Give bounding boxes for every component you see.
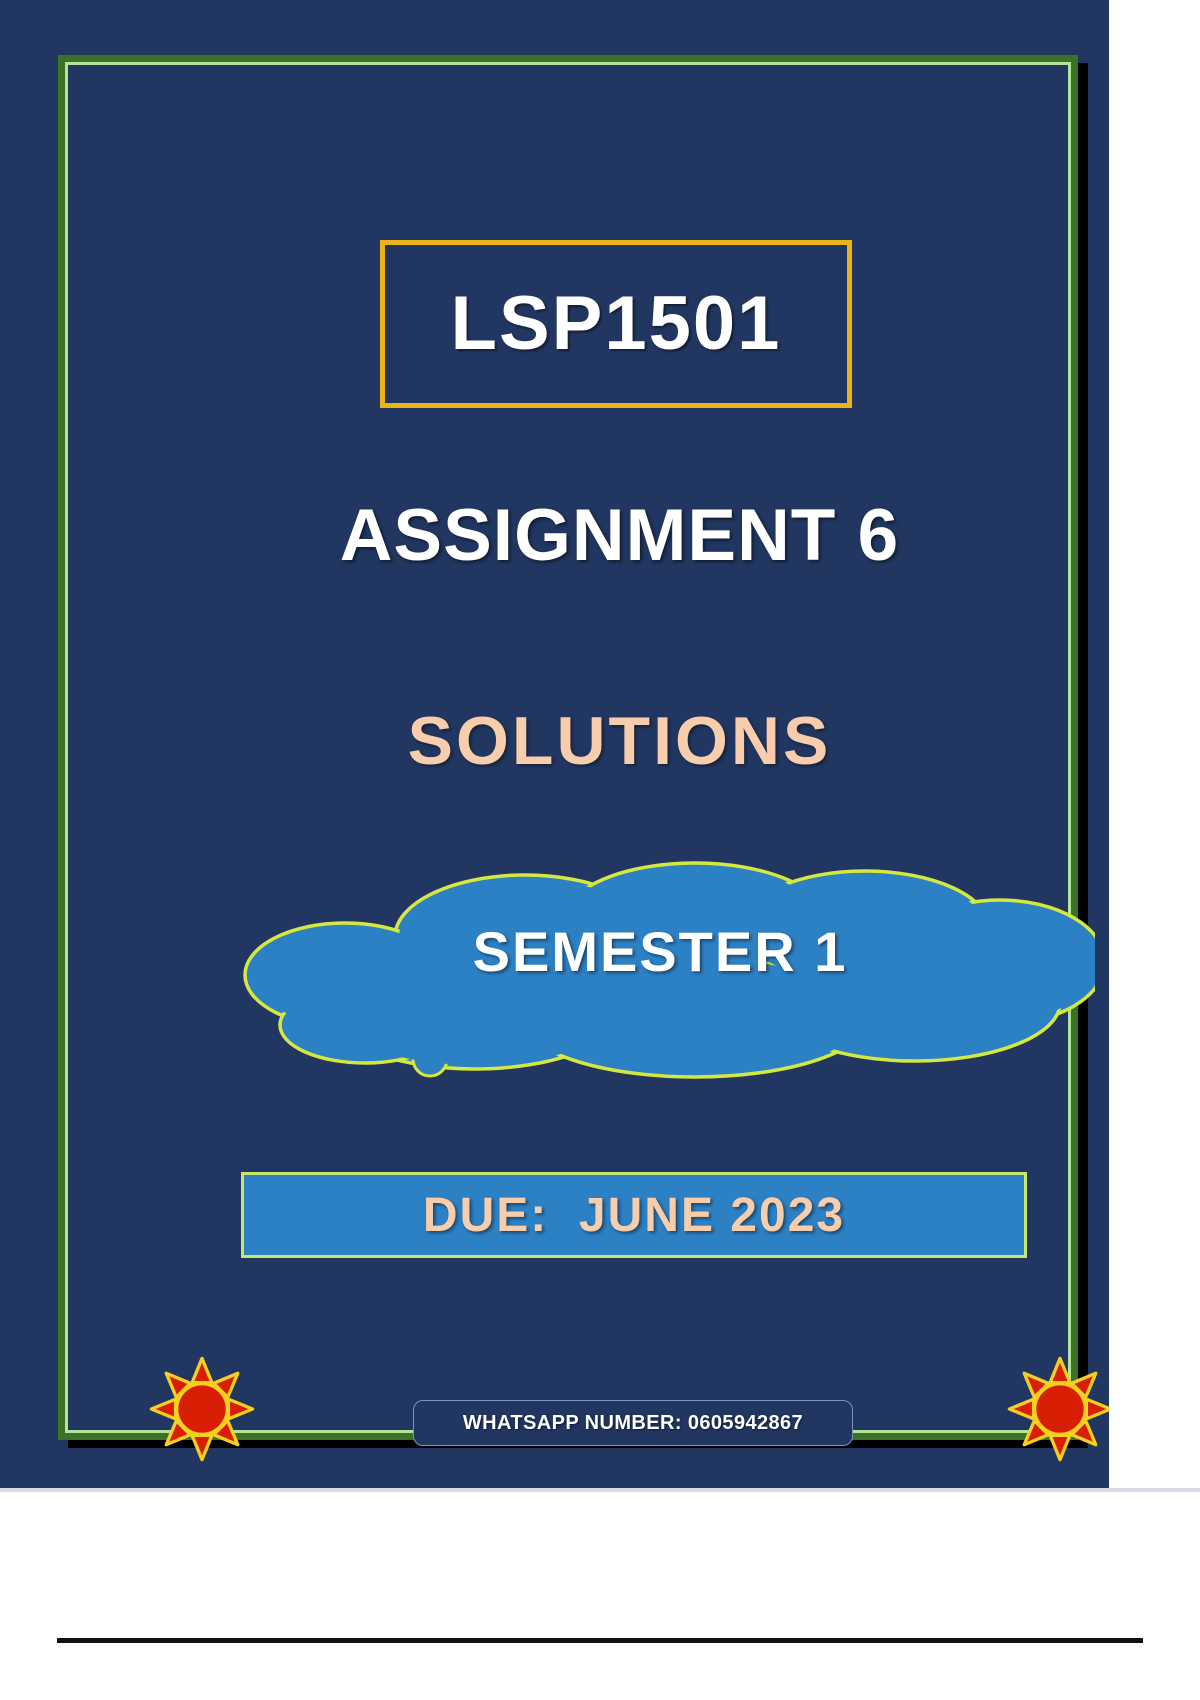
course-code-text: LSP1501 [451,286,782,362]
cover-content-area: LSP1501 ASSIGNMENT 6 SOLUTIONS [65,62,1071,1433]
semester-thought-cloud: SEMESTER 1 [225,857,1095,1092]
course-code-box: LSP1501 [380,240,852,408]
page-gutter [0,1488,1200,1492]
semester-label: SEMESTER 1 [225,919,1095,984]
sun-icon [1005,1354,1109,1464]
assignment-title: ASSIGNMENT 6 [65,494,1109,577]
due-date-banner: DUE: JUNE 2023 [241,1172,1027,1258]
assignment-cover-page: LSP1501 ASSIGNMENT 6 SOLUTIONS [0,0,1109,1488]
sun-icon [147,1354,257,1464]
cover-green-frame: LSP1501 ASSIGNMENT 6 SOLUTIONS [58,55,1078,1440]
whatsapp-contact-pill: WHATSAPP NUMBER: 0605942867 [413,1400,853,1446]
solutions-title: SOLUTIONS [65,702,1109,780]
whatsapp-contact-text: WHATSAPP NUMBER: 0605942867 [463,1412,803,1435]
page-right-margin [1109,0,1200,1488]
next-page-top-rule [57,1638,1143,1643]
due-date-text: DUE: JUNE 2023 [423,1188,845,1243]
